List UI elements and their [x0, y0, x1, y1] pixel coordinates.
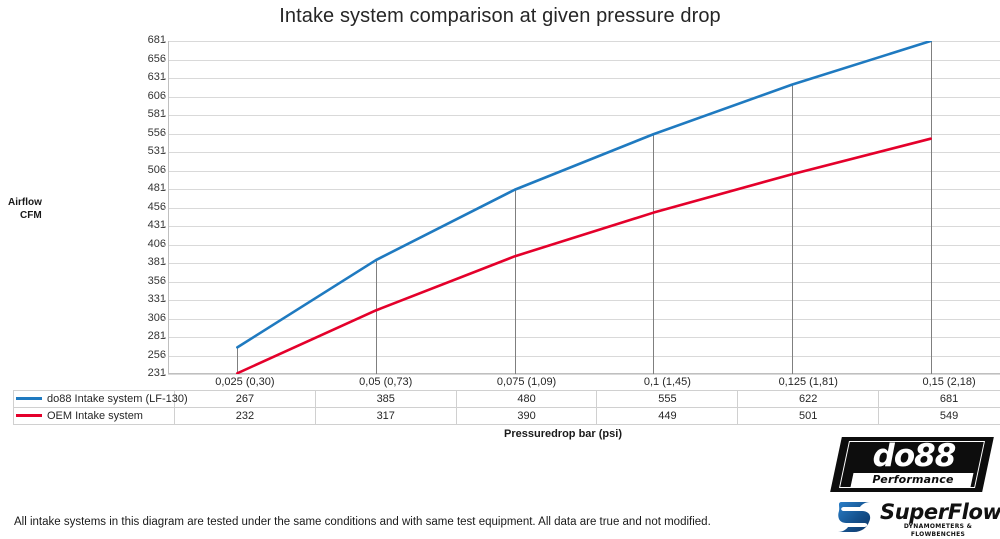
- superflow-logo-tagline: DYNAMOMETERS & FLOWBENCHES: [882, 523, 994, 539]
- y-axis-tick-label: 381: [122, 256, 166, 268]
- table-cell-value: 555: [597, 391, 738, 408]
- x-axis-category-label: 0,15 (2,18): [879, 374, 1000, 391]
- legend-item[interactable]: do88 Intake system (LF-130): [14, 391, 175, 408]
- table-cell-value: 390: [456, 408, 597, 425]
- table-cell-value: 267: [175, 391, 316, 408]
- y-axis-tick-mark: [162, 208, 166, 209]
- table-row-categories: 0,025 (0,30)0,05 (0,73)0,075 (1,09)0,1 (…: [14, 374, 1000, 391]
- y-axis-tick-mark: [162, 171, 166, 172]
- x-axis-category-label: 0,025 (0,30): [175, 374, 316, 391]
- y-axis-tick-labels: 2312562813063313563814064314564815065315…: [120, 0, 166, 538]
- y-axis-tick-mark: [162, 97, 166, 98]
- series-line: [237, 139, 930, 374]
- superflow-name-part1: Super: [880, 500, 948, 524]
- y-axis-tick-label: 581: [122, 108, 166, 120]
- legend-color-swatch: [16, 414, 42, 417]
- y-axis-tick-label: 456: [122, 201, 166, 213]
- table-cell-value: 385: [315, 391, 456, 408]
- y-axis-tick-mark: [162, 263, 166, 264]
- table-corner-cell: [14, 374, 175, 391]
- do88-logo-brand: do88: [850, 438, 978, 474]
- y-axis-tick-label: 506: [122, 164, 166, 176]
- y-axis-tick-label: 306: [122, 312, 166, 324]
- do88-logo-tagline: Performance: [854, 473, 972, 487]
- series-line: [237, 41, 930, 347]
- superflow-logo-name: SuperFlow: [880, 501, 1000, 524]
- y-axis-tick-mark: [162, 300, 166, 301]
- legend-color-swatch: [16, 397, 42, 400]
- y-axis-tick-label: 481: [122, 182, 166, 194]
- table-cell-value: 681: [879, 391, 1000, 408]
- y-axis-tick-mark: [162, 356, 166, 357]
- y-axis-tick-label: 256: [122, 349, 166, 361]
- data-table: 0,025 (0,30)0,05 (0,73)0,075 (1,09)0,1 (…: [13, 374, 1000, 425]
- y-axis-tick-label: 281: [122, 330, 166, 342]
- y-axis-tick-label: 631: [122, 71, 166, 83]
- y-axis-tick-mark: [162, 60, 166, 61]
- y-axis-tick-label: 681: [122, 34, 166, 46]
- table-cell-value: 232: [175, 408, 316, 425]
- legend-label: do88 Intake system (LF-130): [47, 393, 188, 405]
- series-lines: [168, 41, 1000, 374]
- superflow-logo: SuperFlow DYNAMOMETERS & FLOWBENCHES: [836, 500, 994, 536]
- y-axis-tick-label: 656: [122, 53, 166, 65]
- do88-logo: do88 Performance: [836, 437, 988, 492]
- y-axis-tick-mark: [162, 226, 166, 227]
- legend-item[interactable]: OEM Intake system: [14, 408, 175, 425]
- y-axis-tick-mark: [162, 189, 166, 190]
- superflow-swoosh-icon: [836, 500, 876, 534]
- y-axis-tick-label: 431: [122, 219, 166, 231]
- legend-label: OEM Intake system: [47, 410, 143, 422]
- y-axis-tick-mark: [162, 337, 166, 338]
- x-axis-category-label: 0,05 (0,73): [315, 374, 456, 391]
- y-axis-tick-mark: [162, 245, 166, 246]
- plot-area: [168, 41, 1000, 374]
- y-axis-tick-mark: [162, 134, 166, 135]
- y-axis-tick-label: 556: [122, 127, 166, 139]
- y-axis-tick-label: 356: [122, 275, 166, 287]
- y-axis-tick-mark: [162, 152, 166, 153]
- footer-note: All intake systems in this diagram are t…: [14, 516, 711, 528]
- x-axis-category-label: 0,1 (1,45): [597, 374, 738, 391]
- y-axis-tick-label: 331: [122, 293, 166, 305]
- table-cell-value: 622: [738, 391, 879, 408]
- table-cell-value: 449: [597, 408, 738, 425]
- y-axis-title-line1: Airflow: [6, 196, 76, 209]
- y-axis-tick-mark: [162, 41, 166, 42]
- superflow-name-part2: Flow: [948, 500, 1000, 524]
- table-cell-value: 480: [456, 391, 597, 408]
- x-axis-category-label: 0,075 (1,09): [456, 374, 597, 391]
- y-axis-tick-mark: [162, 319, 166, 320]
- y-axis-title-line2: CFM: [6, 209, 76, 222]
- y-axis-tick-label: 531: [122, 145, 166, 157]
- table-row: OEM Intake system232317390449501549: [14, 408, 1000, 425]
- y-axis-tick-label: 406: [122, 238, 166, 250]
- table-row: do88 Intake system (LF-130)2673854805556…: [14, 391, 1000, 408]
- table-cell-value: 549: [879, 408, 1000, 425]
- table-cell-value: 501: [738, 408, 879, 425]
- y-axis-tick-label: 606: [122, 90, 166, 102]
- y-axis-tick-mark: [162, 282, 166, 283]
- x-axis-category-label: 0,125 (1,81): [738, 374, 879, 391]
- y-axis-tick-mark: [162, 78, 166, 79]
- y-axis-tick-mark: [162, 115, 166, 116]
- y-axis-title: Airflow CFM: [6, 196, 76, 222]
- table-cell-value: 317: [315, 408, 456, 425]
